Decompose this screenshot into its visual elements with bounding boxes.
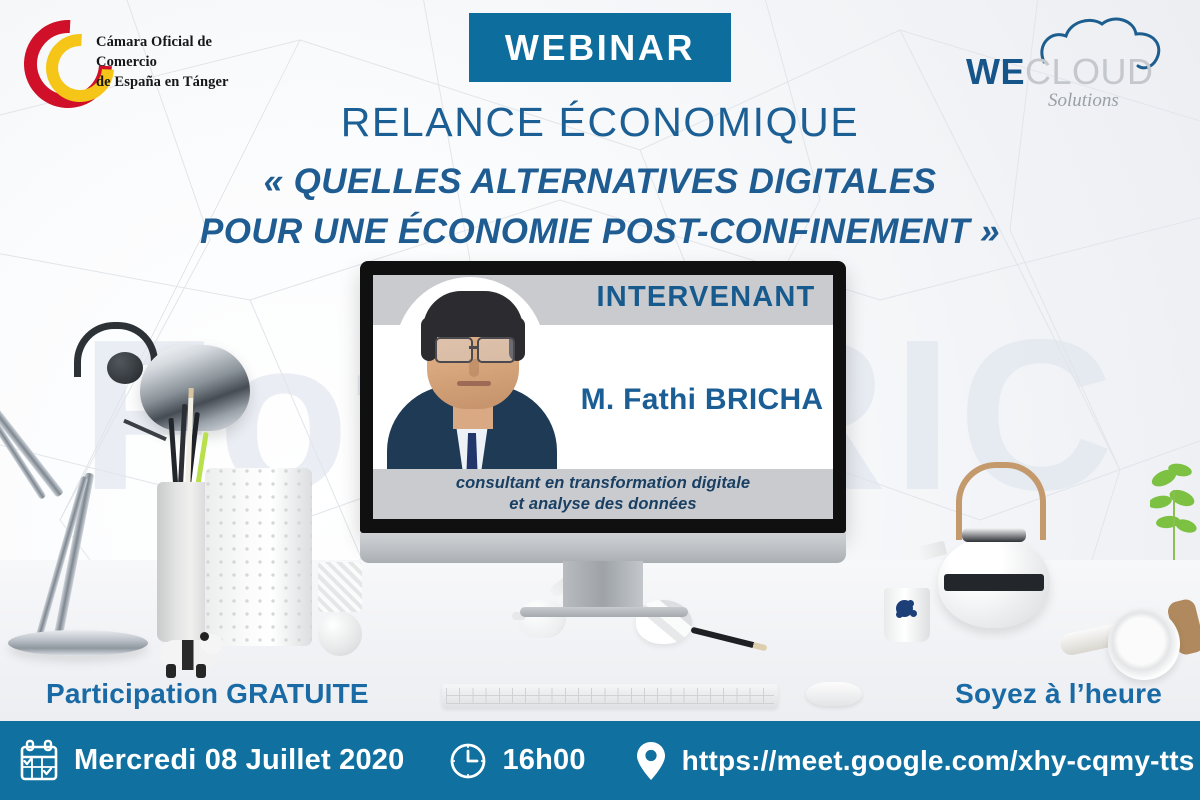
lamp-base	[8, 630, 148, 656]
wecloud-cloud-text: CLOUD	[1025, 51, 1154, 92]
teacup-flower-motif	[896, 600, 913, 617]
decorative-tile	[318, 562, 362, 612]
mouse	[806, 682, 862, 706]
screen-bottom-band: consultant en transformation digitale et…	[373, 469, 833, 519]
speaker-role-line2: et analyse des données	[509, 494, 696, 515]
footer-meeting-url[interactable]: https://meet.google.com/xhy-cqmy-tts	[682, 745, 1195, 777]
monitor-stand-neck	[563, 561, 643, 609]
chamber-logo-line1: Cámara Oficial de Comercio	[96, 32, 266, 72]
computer-monitor: INTERVENANT M. Fathi BRICHA consultant e…	[360, 261, 846, 561]
lamp-joint	[107, 352, 143, 384]
page-subtitle: « QUELLES ALTERNATIVES DIGITALES POUR UN…	[0, 157, 1200, 256]
footer-date-text: Mercredi 08 Juillet 2020	[74, 744, 404, 777]
chamber-of-commerce-logo: Cámara Oficial de Comercio de España en …	[18, 14, 258, 94]
footer-link-item[interactable]: https://meet.google.com/xhy-cqmy-tts	[634, 739, 1195, 783]
chamber-logo-text: Cámara Oficial de Comercio de España en …	[96, 32, 266, 92]
monitor-screen: INTERVENANT M. Fathi BRICHA consultant e…	[373, 275, 833, 519]
panda-ear	[200, 632, 209, 641]
plant-icon	[1150, 460, 1200, 570]
footer-date-item: Mercredi 08 Juillet 2020	[18, 739, 404, 783]
teapot-lid	[962, 528, 1026, 542]
wecloud-wordmark: WECLOUD	[966, 54, 1154, 90]
portrait-glasses-lens	[477, 337, 515, 363]
headphones-icon	[1108, 608, 1180, 680]
chamber-logo-line2: de España en Tánger	[96, 72, 266, 92]
teapot-spout	[915, 541, 947, 562]
wecloud-we-text: WE	[966, 51, 1025, 92]
portrait-mouth	[457, 381, 491, 386]
subtitle-line-1: « QUELLES ALTERNATIVES DIGITALES	[0, 157, 1200, 207]
clock-icon	[448, 741, 488, 781]
speaker-name: M. Fathi BRICHA	[573, 383, 831, 417]
calendar-icon	[18, 739, 60, 783]
page-title: RELANCE ÉCONOMIQUE	[0, 99, 1200, 146]
speaker-portrait	[379, 277, 565, 491]
portrait-glasses-bridge	[469, 346, 477, 349]
decorative-ball	[318, 612, 362, 656]
panda-leg	[166, 664, 176, 678]
teapot-band	[944, 574, 1044, 591]
subtitle-line-2: POUR UNE ÉCONOMIE POST-CONFINEMENT »	[0, 207, 1200, 257]
webinar-poster: FotoBRIC	[0, 0, 1200, 800]
map-pin-icon	[634, 739, 668, 783]
speaker-role-line1: consultant en transformation digitale	[456, 473, 750, 494]
footer-bar: Mercredi 08 Juillet 2020 16h00 https://m…	[0, 721, 1200, 800]
wecloud-solutions-logo: WECLOUD Solutions	[960, 14, 1175, 106]
caption-be-on-time: Soyez à l’heure	[955, 678, 1162, 710]
keyboard-keys	[446, 688, 774, 704]
caption-participation: Participation GRATUITE	[46, 678, 369, 710]
panda-leg	[196, 664, 206, 678]
footer-time-item: 16h00	[448, 741, 585, 781]
portrait-glasses-lens	[435, 337, 473, 363]
ceramic-bird-figurine	[518, 600, 566, 638]
webinar-badge: WEBINAR	[469, 13, 731, 82]
footer-time-text: 16h00	[502, 744, 585, 777]
keyboard	[442, 684, 778, 708]
perforated-pen-cup	[205, 468, 312, 646]
speaker-label: INTERVENANT	[581, 281, 831, 314]
monitor-chin	[360, 533, 846, 563]
monitor-bezel: INTERVENANT M. Fathi BRICHA consultant e…	[360, 261, 846, 533]
monitor-stand-foot	[520, 607, 688, 617]
